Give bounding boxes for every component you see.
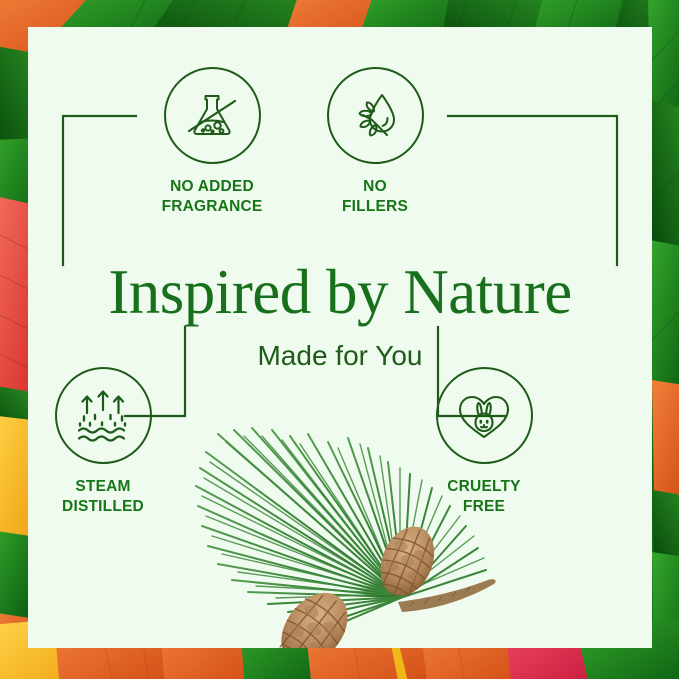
poster-canvas: NO ADDED FRAGRANCE: [0, 0, 679, 679]
badge-no-fillers: NO FILLERS: [300, 67, 450, 217]
badge-label-line1: STEAM: [75, 478, 130, 495]
badge-circle: [55, 367, 152, 464]
content-card: NO ADDED FRAGRANCE: [28, 27, 652, 648]
badge-label-line1: NO ADDED: [170, 178, 254, 195]
pine-branch-with-cones-image: [188, 422, 518, 648]
badge-label: NO FILLERS: [300, 177, 450, 217]
steam-waves-icon: [72, 385, 134, 447]
flask-no-fragrance-icon: [181, 85, 243, 147]
badge-label: STEAM DISTILLED: [28, 477, 178, 517]
badge-label: NO ADDED FRAGRANCE: [137, 177, 287, 217]
badge-circle: [327, 67, 424, 164]
badge-label-line2: FILLERS: [342, 198, 408, 215]
badge-steam-distilled: STEAM DISTILLED: [28, 367, 178, 517]
droplet-leaves-icon: [344, 85, 406, 147]
badge-label-line2: DISTILLED: [62, 498, 144, 515]
headline-block: Inspired by Nature Made for You: [28, 261, 652, 370]
page-title: Inspired by Nature: [28, 261, 652, 324]
badge-label-line1: NO: [363, 178, 387, 195]
badge-circle: [164, 67, 261, 164]
badge-no-added-fragrance: NO ADDED FRAGRANCE: [137, 67, 287, 217]
page-subtitle: Made for You: [28, 342, 652, 370]
badge-label-line2: FRAGRANCE: [162, 198, 263, 215]
